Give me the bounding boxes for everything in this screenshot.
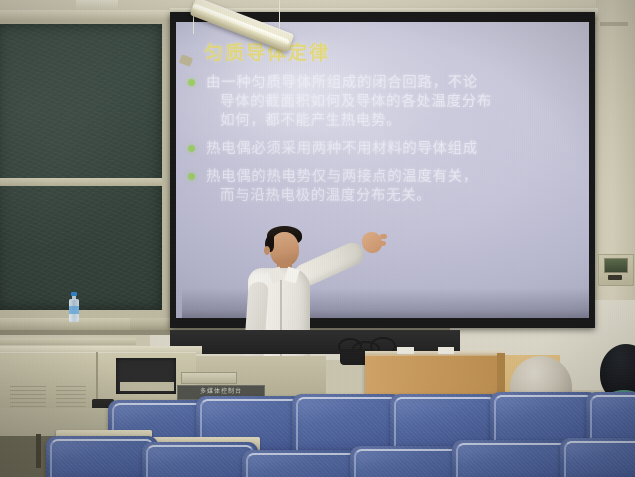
desk-drawer-front [181, 372, 237, 384]
monitor-label [120, 382, 174, 391]
chalkboard-frame [0, 10, 175, 330]
slide-bullet-list: 由一种匀质导体所组成的闭合回路，不论 导体的截面积如何及导体的各处温度分布 如何… [184, 74, 589, 215]
podium-paper [397, 347, 414, 354]
chalkboard-top-rail [0, 10, 172, 20]
slide-bullet-2: 热电偶必须采用两种不用材料的导体组成 [184, 140, 589, 159]
slide-bullet-3: 热电偶的热电势仅与两接点的温度有关， 而与沿热电极的温度分布无关。 [184, 168, 589, 206]
seat-leg [36, 434, 41, 468]
console-desk-rail [0, 338, 136, 345]
presenter-finger [380, 241, 386, 246]
seat[interactable] [242, 450, 362, 477]
slide-bullet-3-line-1: 热电偶的热电势仅与两接点的温度有关， [206, 168, 589, 187]
seat[interactable] [142, 442, 258, 477]
seat[interactable] [292, 394, 402, 452]
seat[interactable] [452, 440, 574, 477]
presenter-head [270, 232, 299, 266]
presenter-ear [264, 246, 270, 255]
slide-bullet-1-line-3: 如何，都不能产生热电势。 [206, 112, 589, 131]
podium-paper [438, 347, 454, 354]
bullet-dot-icon [188, 79, 195, 86]
wall-control-button[interactable] [608, 275, 622, 280]
seat[interactable] [560, 438, 635, 477]
wall-mark [600, 22, 628, 26]
bullet-dot-icon [188, 145, 195, 152]
lecture-hall-photo: 匀质导体定律 由一种匀质导体所组成的闭合回路，不论 导体的截面积如何及导体的各处… [0, 0, 635, 477]
chalkboard-lower-rail [0, 330, 181, 335]
presenter-finger [380, 234, 387, 239]
slide-bullet-2-line-1: 热电偶必须采用两种不用材料的导体组成 [206, 140, 589, 159]
water-bottle [69, 292, 79, 322]
slide-bullet-3-line-2: 而与沿热电极的温度分布无关。 [206, 187, 589, 206]
bullet-dot-icon [188, 173, 195, 180]
wall-control-display [604, 258, 628, 273]
slide-bullet-1-line-1: 由一种匀质导体所组成的闭合回路，不论 [206, 74, 589, 93]
chalkboard-divider [0, 178, 162, 186]
chalkboard-surface [0, 24, 162, 310]
bottle-label [69, 306, 79, 314]
right-wall [596, 0, 635, 345]
slide-bullet-1: 由一种匀质导体所组成的闭合回路，不论 导体的截面积如何及导体的各处温度分布 如何… [184, 74, 589, 131]
slide-bullet-1-line-2: 导体的截面积如何及导体的各处温度分布 [206, 93, 589, 112]
